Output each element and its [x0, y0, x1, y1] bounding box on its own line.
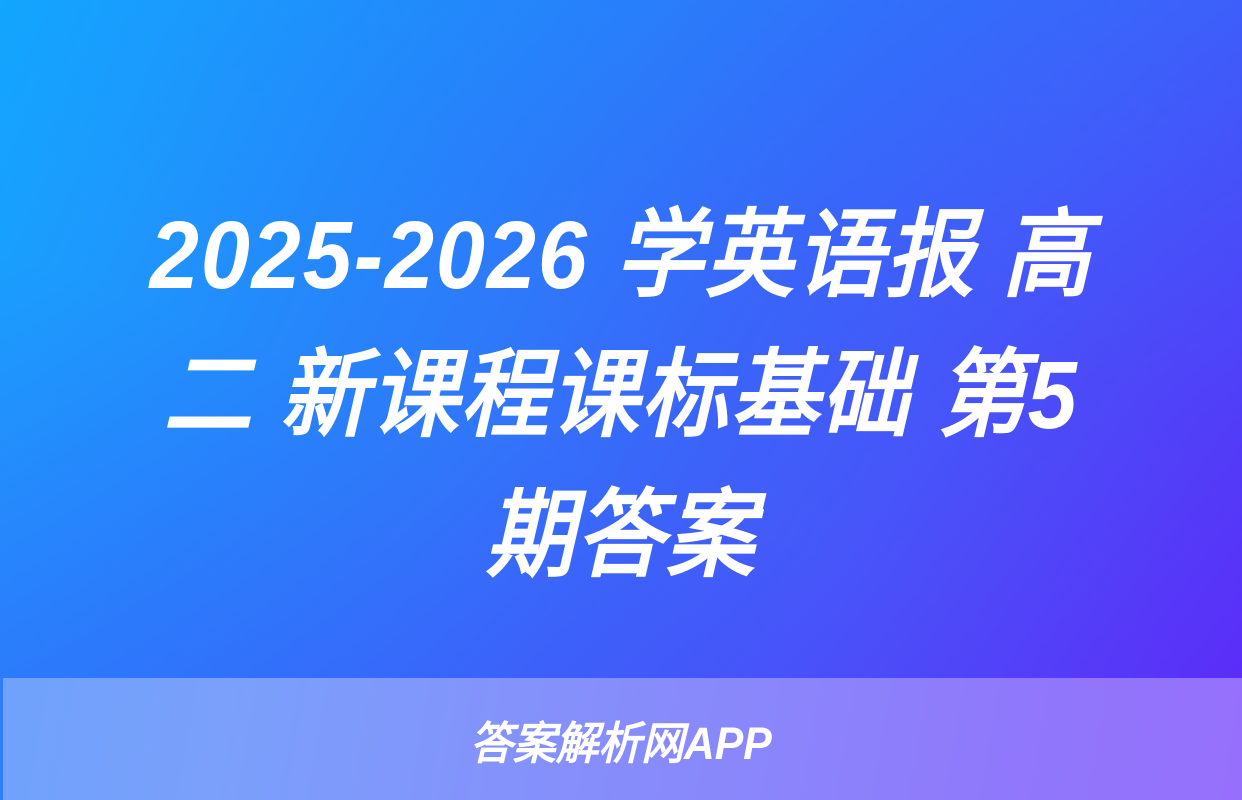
footer-left-edge-strip [0, 678, 3, 800]
title-line-2: 二 新课程课标基础 第5 [74, 326, 1169, 466]
app-watermark-label: 答案解析网APP [31, 678, 1211, 800]
answer-banner: 2025-2026 学英语报 高 二 新课程课标基础 第5 期答案 答案解析网A… [0, 0, 1242, 800]
footer-bar: 答案解析网APP [0, 678, 1242, 800]
title-line-1: 2025-2026 学英语报 高 [74, 186, 1169, 326]
page-title: 2025-2026 学英语报 高 二 新课程课标基础 第5 期答案 [0, 186, 1242, 606]
banner-gradient-stage: 2025-2026 学英语报 高 二 新课程课标基础 第5 期答案 [0, 0, 1242, 678]
title-line-3: 期答案 [74, 466, 1169, 606]
